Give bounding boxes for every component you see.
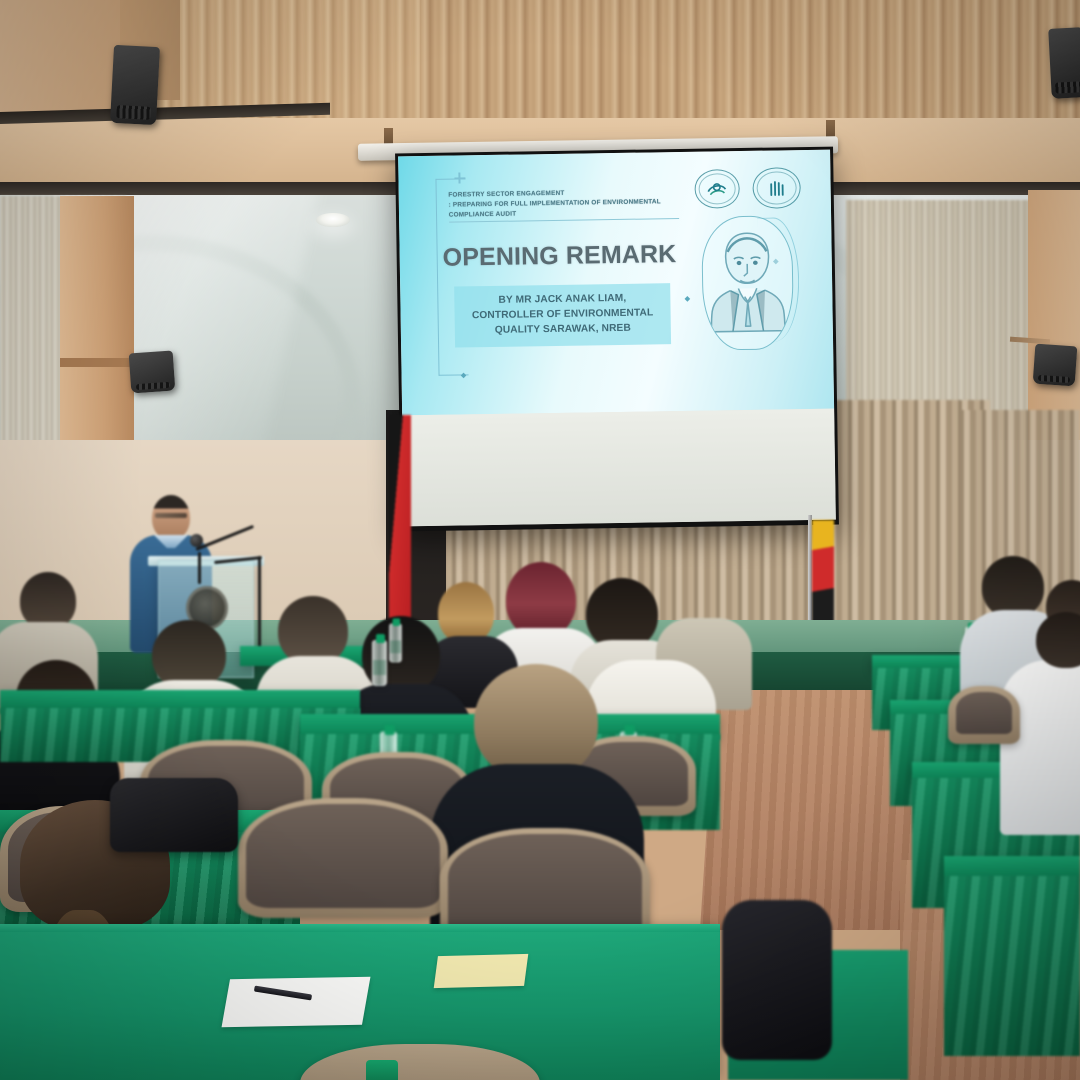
slide-subtitle-box: BY MR JACK ANAK LIAM, CONTROLLER OF ENVI… xyxy=(454,283,671,347)
foreground-table-edge xyxy=(0,924,720,932)
slide-dot-mark xyxy=(685,296,691,302)
ribbed-wall-panel-right xyxy=(420,0,1080,118)
speaker-portrait-illustration xyxy=(701,215,794,351)
note-card xyxy=(434,954,529,988)
handbag xyxy=(110,778,238,852)
attendee-torso xyxy=(1000,660,1080,835)
backpack xyxy=(722,900,832,1060)
wall-speaker-right-lower xyxy=(1033,344,1078,387)
slide-footer xyxy=(451,380,645,383)
slide-kicker: FORESTRY SECTOR ENGAGEMENT : PREPARING F… xyxy=(448,186,716,222)
wall-column-left-band xyxy=(60,358,134,367)
projection-screen: FORESTRY SECTOR ENGAGEMENT : PREPARING F… xyxy=(395,147,839,532)
microphone-stand-2 xyxy=(258,556,261,656)
slide-kicker-line1: FORESTRY SECTOR ENGAGEMENT xyxy=(448,190,564,199)
slide-subtitle-line3: QUALITY SARAWAK, NREB xyxy=(461,321,665,339)
wall-speaker-left xyxy=(110,45,160,125)
table-drape xyxy=(944,876,1080,1056)
attendee-head xyxy=(982,556,1044,618)
nreb-logo xyxy=(694,169,740,209)
slide-kicker-line2: : PREPARING FOR FULL IMPLEMENTATION OF E… xyxy=(448,197,679,222)
sarawak-agency-logo xyxy=(753,167,801,209)
presenter-glasses xyxy=(155,513,187,518)
flag-left xyxy=(389,415,411,633)
slide-title: OPENING REMARK xyxy=(434,240,685,273)
wall-speaker-right xyxy=(1048,27,1080,99)
attendee-head xyxy=(1036,612,1080,668)
microphone-head-1 xyxy=(190,534,203,547)
attendee-head xyxy=(506,562,576,638)
slide-tick-mark xyxy=(455,178,466,180)
presentation-slide: FORESTRY SECTOR ENGAGEMENT : PREPARING F… xyxy=(398,150,834,416)
chair xyxy=(238,798,448,918)
water-bottle xyxy=(372,640,387,686)
paper-sheet xyxy=(222,977,371,1027)
chair xyxy=(948,686,1020,744)
bottle-cap xyxy=(366,1060,398,1080)
slide-tick-mark xyxy=(458,172,460,183)
water-bottle xyxy=(389,623,402,662)
conference-hall-photo: FORESTRY SECTOR ENGAGEMENT : PREPARING F… xyxy=(0,0,1080,1080)
attendee-head xyxy=(438,582,494,644)
attendee-head xyxy=(474,664,598,780)
ceiling-downlight xyxy=(316,213,350,227)
screen-blank-area xyxy=(402,409,836,527)
microphone-stand-1 xyxy=(198,552,201,584)
wall-speaker-left-lower xyxy=(129,351,176,394)
portrait-line-art xyxy=(703,216,794,350)
flag-right xyxy=(812,520,834,632)
